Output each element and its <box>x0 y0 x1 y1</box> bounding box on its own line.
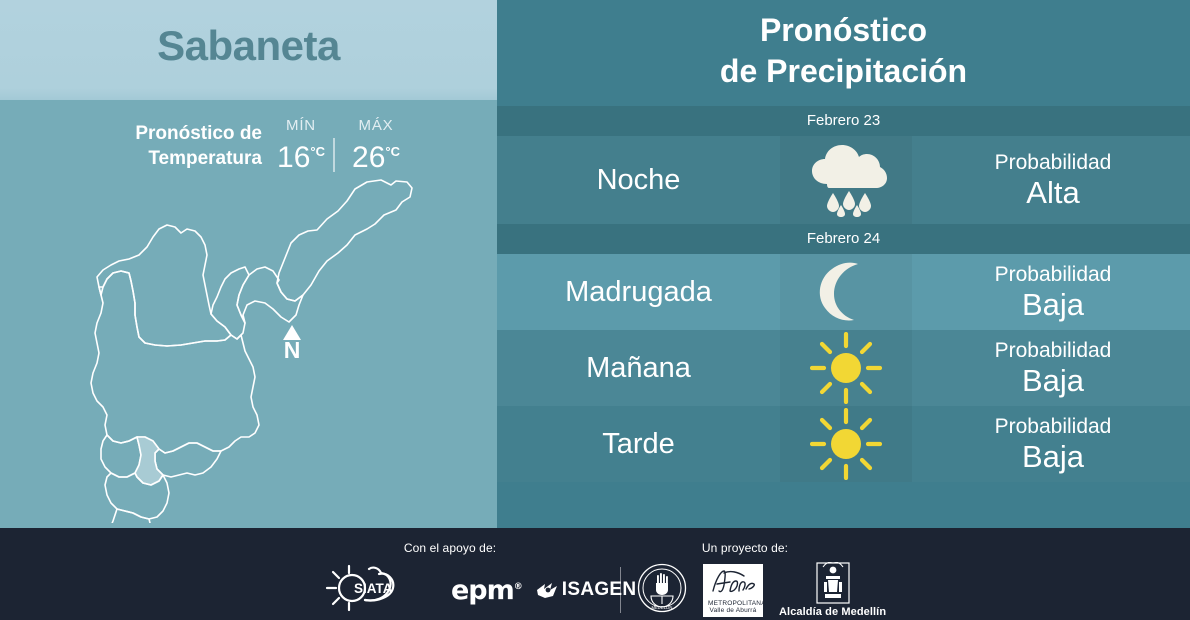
date-divider-feb23: Febrero 23 <box>497 106 1190 136</box>
crescent-moon-icon-svg <box>814 260 878 324</box>
temperature-max-value: 26 <box>352 141 385 174</box>
north-arrow-label: N <box>272 339 312 362</box>
sun-icon-svg <box>810 332 882 404</box>
temperature-max-unit: °C <box>385 144 400 159</box>
probability-cell: Probabilidad Baja <box>912 262 1190 323</box>
precipitation-title-line2: de Precipitación <box>497 51 1190 92</box>
date-divider-feb24: Febrero 24 <box>497 224 1190 254</box>
precipitation-title-line1: Pronóstico <box>497 10 1190 51</box>
amva-logo[interactable]: METROPOLITANA Valle de Aburrá <box>703 564 763 617</box>
temperature-label: Pronóstico de Temperatura <box>62 121 262 171</box>
probability-cell: Probabilidad Baja <box>912 338 1190 399</box>
temperature-max-value-wrap: 26°C <box>340 136 412 174</box>
apoyo-caption: Con el apoyo de: <box>300 541 600 555</box>
alcaldia-label: Alcaldía de Medellín <box>779 606 886 618</box>
probability-value: Alta <box>916 175 1190 211</box>
isagen-mark-icon <box>536 580 558 600</box>
sun-icon <box>780 406 912 482</box>
forecast-period-label: Tarde <box>497 428 780 461</box>
siata-logo[interactable]: SIATA <box>325 564 423 617</box>
forecast-period-label: Madrugada <box>497 276 780 309</box>
forecast-row-manana[interactable]: Mañana Probabili <box>497 330 1190 406</box>
probability-label: Probabilidad <box>916 414 1190 439</box>
temperature-min-unit: °C <box>310 144 325 159</box>
temperature-min-value-wrap: 16°C <box>270 136 332 174</box>
rain-cloud-icon-svg <box>803 143 889 217</box>
page-title: Sabaneta <box>0 22 497 70</box>
udem-seal-svg: MEDELLÍN <box>637 563 687 613</box>
forecast-period-label: Noche <box>497 164 780 197</box>
crescent-moon-icon <box>780 254 912 330</box>
probability-cell: Probabilidad Alta <box>912 150 1190 211</box>
probability-cell: Probabilidad Baja <box>912 414 1190 475</box>
left-panel: Sabaneta Pronóstico de Temperatura MÍN 1… <box>0 0 497 528</box>
probability-label: Probabilidad <box>916 338 1190 363</box>
footer-divider <box>620 567 621 613</box>
precipitation-title: Pronóstico de Precipitación <box>497 10 1190 92</box>
temperature-min-caption: MÍN <box>270 116 332 136</box>
alcaldia-logo[interactable]: Alcaldía de Medellín <box>779 562 886 618</box>
forecast-period-label: Mañana <box>497 352 780 385</box>
proyecto-logos: MEDELLÍN METROPOLITANA Valle de Abur <box>620 564 900 616</box>
temperature-min: MÍN 16°C <box>270 116 332 174</box>
temperature-label-line2: Temperatura <box>148 148 262 169</box>
north-arrow: N <box>272 325 312 362</box>
probability-value: Baja <box>916 439 1190 475</box>
weather-forecast-card: Sabaneta Pronóstico de Temperatura MÍN 1… <box>0 0 1190 620</box>
temperature-max: MÁX 26°C <box>340 116 412 174</box>
epm-registered-mark: ® <box>514 582 522 592</box>
rain-cloud-icon <box>780 136 912 224</box>
map-region-sabaneta[interactable] <box>135 437 163 485</box>
apoyo-logos: SIATA epm® ISAGEN <box>325 564 600 616</box>
epm-logo-text: epm <box>451 575 514 606</box>
probability-label: Probabilidad <box>916 262 1190 287</box>
amva-script-icon <box>708 567 758 595</box>
proyecto-caption: Un proyecto de: <box>620 541 870 555</box>
forecast-row-tarde[interactable]: Tarde Probabilid <box>497 406 1190 482</box>
sun-icon-svg <box>810 408 882 480</box>
forecast-row-madrugada[interactable]: Madrugada Probabilidad Baja <box>497 254 1190 330</box>
temperature-label-line1: Pronóstico de <box>135 123 262 144</box>
temperature-max-caption: MÁX <box>340 116 412 136</box>
amva-name-line1: METROPOLITANA <box>708 600 758 608</box>
epm-logo[interactable]: epm® <box>451 575 522 606</box>
alcaldia-crest-icon <box>816 562 850 604</box>
footer: Con el apoyo de: Un proyecto de: <box>0 528 1190 620</box>
map-svg <box>55 175 455 523</box>
forecast-row-noche[interactable]: Noche Probabilidad Alta <box>497 136 1190 224</box>
siata-logo-svg: SIATA <box>325 564 423 612</box>
temperature-separator <box>333 138 335 172</box>
probability-label: Probabilidad <box>916 150 1190 175</box>
sun-icon <box>780 330 912 406</box>
amva-name-line2: Valle de Aburrá <box>708 607 758 615</box>
udem-seal-text: MEDELLÍN <box>652 605 673 610</box>
siata-logo-text: SIATA <box>354 581 393 596</box>
right-panel: Pronóstico de Precipitación Febrero 23 N… <box>497 0 1190 528</box>
aburra-valley-map[interactable] <box>55 175 455 523</box>
probability-value: Baja <box>916 363 1190 399</box>
temperature-forecast-block: Pronóstico de Temperatura MÍN 16°C MÁX 2… <box>0 116 497 178</box>
probability-value: Baja <box>916 287 1190 323</box>
udem-seal-logo[interactable]: MEDELLÍN <box>637 563 687 618</box>
temperature-min-value: 16 <box>277 141 310 174</box>
